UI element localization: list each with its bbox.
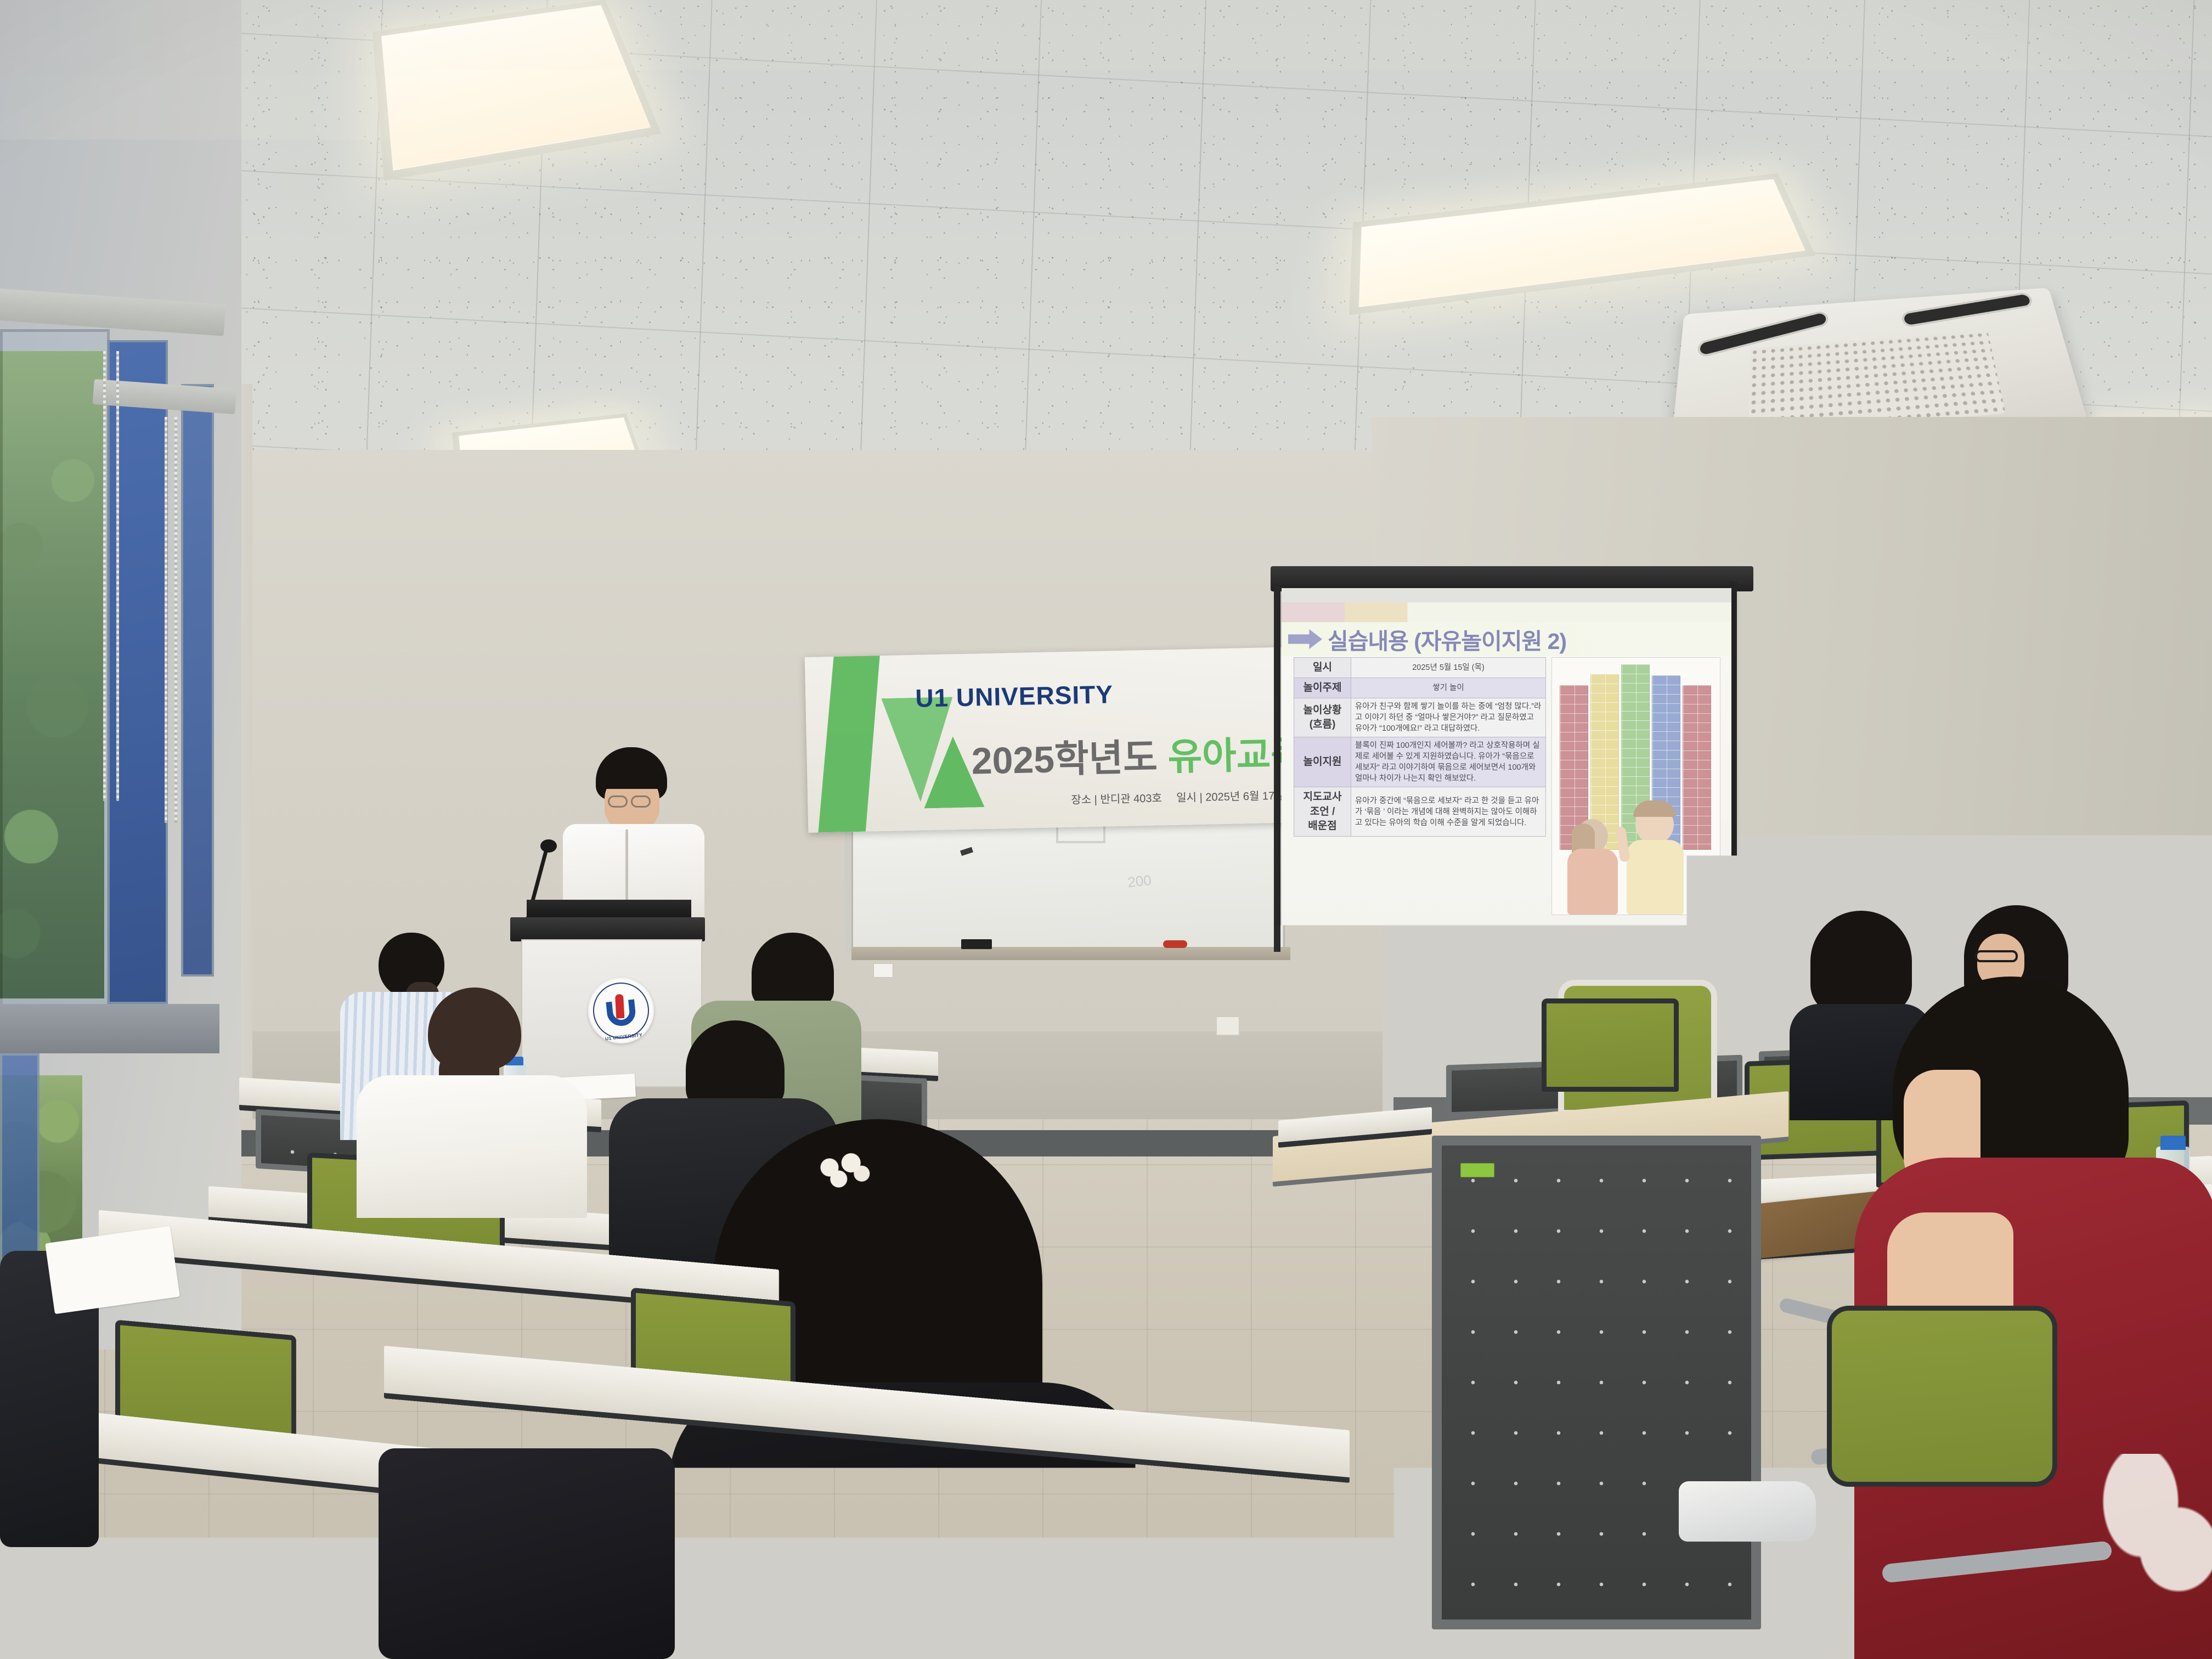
slide-title: 실습내용 (자유놀이지원 2) [1328,623,1566,656]
ac-vent-right [1900,292,2034,328]
logo-one-red [615,994,624,1019]
banner-date-label: 일시 | [1176,792,1203,804]
slide-title-row: 실습내용 (자유놀이지원 2) [1282,622,1731,656]
chair-foreground-right[interactable] [1827,1306,2057,1487]
presenter-fringe [598,767,666,789]
window-panel-blue-2 [181,384,214,977]
door-notice-paper [2085,817,2135,889]
slide-row-value: 유아가 친구와 함께 쌓기 놀이를 하는 중에 “엄청 많다.”라고 이야기 하… [1351,698,1546,737]
slide-table: 일시 2025년 5월 15일 (목) 놀이주제 쌓기 놀이 놀이상황 (흐름)… [1294,657,1546,837]
whiteboard-marker-mark [960,847,973,856]
table-row: 일시 2025년 5월 15일 (목) [1294,658,1546,678]
podium-top [510,917,705,941]
slide-row-value: 유아가 중간에 “묶음으로 세보자“ 라고 한 것을 듣고 유아가 ‘묶음 ’ … [1351,787,1546,837]
screen-edge-left [1274,587,1280,952]
exit-sign [2129,592,2179,633]
banner-place-label: 장소 | [1071,794,1097,806]
classroom-photo-scene: 200 U1 UNIVERSITY 2025학년도 유아교육과 학 장소 | 반… [0,0,2212,1659]
room-sign: 강의실 [2099,725,2152,745]
black-backpack[interactable] [379,1448,675,1659]
blind-chain-4[interactable] [174,417,177,823]
person-hair [686,1020,785,1110]
slide-row-label: 지도교사 조언 / 배운점 [1294,787,1351,837]
table-row: 놀이상황 (흐름) 유아가 친구와 함께 쌓기 놀이를 하는 중에 “엄청 많다… [1294,698,1546,737]
window-sill [0,1004,219,1053]
whiteboard-tray [851,947,1290,960]
slide-row-label: 놀이주제 [1294,678,1351,698]
banner-place-value: 반디관 403호 [1100,792,1162,805]
person-hair [752,933,834,1007]
banner-place: 장소 | 반디관 403호 [1071,789,1162,806]
banner-shape-a [815,650,884,832]
slide-row-label: 놀이지원 [1294,737,1351,787]
desk-modesty-foreground [1432,1136,1761,1629]
children-counting-blocks-illustration [1551,657,1720,915]
slide-row-value: 2025년 5월 15일 (목) [1351,658,1546,678]
projection-screen[interactable]: 실습내용 (자유놀이지원 2) 일시 2025년 5월 15일 (목) 놀이주제… [1282,588,1731,953]
window-pane-1[interactable] [0,329,110,1015]
presenter-glasses-right [631,795,651,808]
event-banner: U1 UNIVERSITY 2025학년도 유아교육과 학 장소 | 반디관 4… [805,646,1329,833]
person-shirt [357,1075,587,1218]
blind-chain-1[interactable] [103,351,106,801]
hoodie-graphic [2090,1454,2212,1613]
whiteboard-label [873,963,893,978]
projected-slide: 실습내용 (자유놀이지원 2) 일시 2025년 5월 15일 (목) 놀이주제… [1282,602,1731,937]
chair-center-right[interactable] [1542,998,1679,1092]
blind-chain-3[interactable] [165,417,167,823]
asset-tag-sticker [1460,1163,1494,1177]
running-person-icon [2147,601,2161,625]
banner-brand-u1: U1 [915,684,949,713]
whiteboard-ghost-note: 200 [1127,865,1216,891]
student-left-white-shirt [357,988,587,1218]
arrow-right-icon [1288,629,1322,649]
slide-row-value: 쌓기 놀이 [1351,678,1546,698]
child-boy-body [1627,840,1684,915]
whiteboard-eraser[interactable] [961,939,992,949]
corridor-light [1970,746,2057,755]
whiteboard-marker[interactable] [1163,940,1187,948]
pearl-hair-clip [806,1152,883,1190]
banner-brand-university: UNIVERSITY [956,680,1113,712]
child-girl-body [1567,849,1618,915]
slide-row-value: 블록이 진짜 100개인지 세어볼까? 라고 상호작용하며 실제로 세어볼 수 … [1351,737,1546,787]
table-row: 놀이지원 블록이 진짜 100개인지 세어볼까? 라고 상호작용하며 실제로 세… [1294,737,1546,787]
microphone-head [540,839,557,853]
blind-chain-2[interactable] [116,351,119,801]
sneaker [1679,1481,1816,1542]
brick-column-5 [1683,685,1711,850]
table-row: 지도교사 조언 / 배운점 유아가 중간에 “묶음으로 세보자“ 라고 한 것을… [1294,787,1546,837]
table-row: 놀이주제 쌓기 놀이 [1294,678,1546,698]
banner-brand: U1 UNIVERSITY [915,679,1114,713]
presenter-glasses-left [608,795,628,808]
slide-row-label: 일시 [1294,658,1351,678]
wall-outlet[interactable] [1216,1016,1240,1036]
slide-row-label: 놀이상황 (흐름) [1294,698,1351,737]
banner-title-year: 2025학년도 [971,737,1158,782]
glass-partition-2 [1964,603,2068,1119]
